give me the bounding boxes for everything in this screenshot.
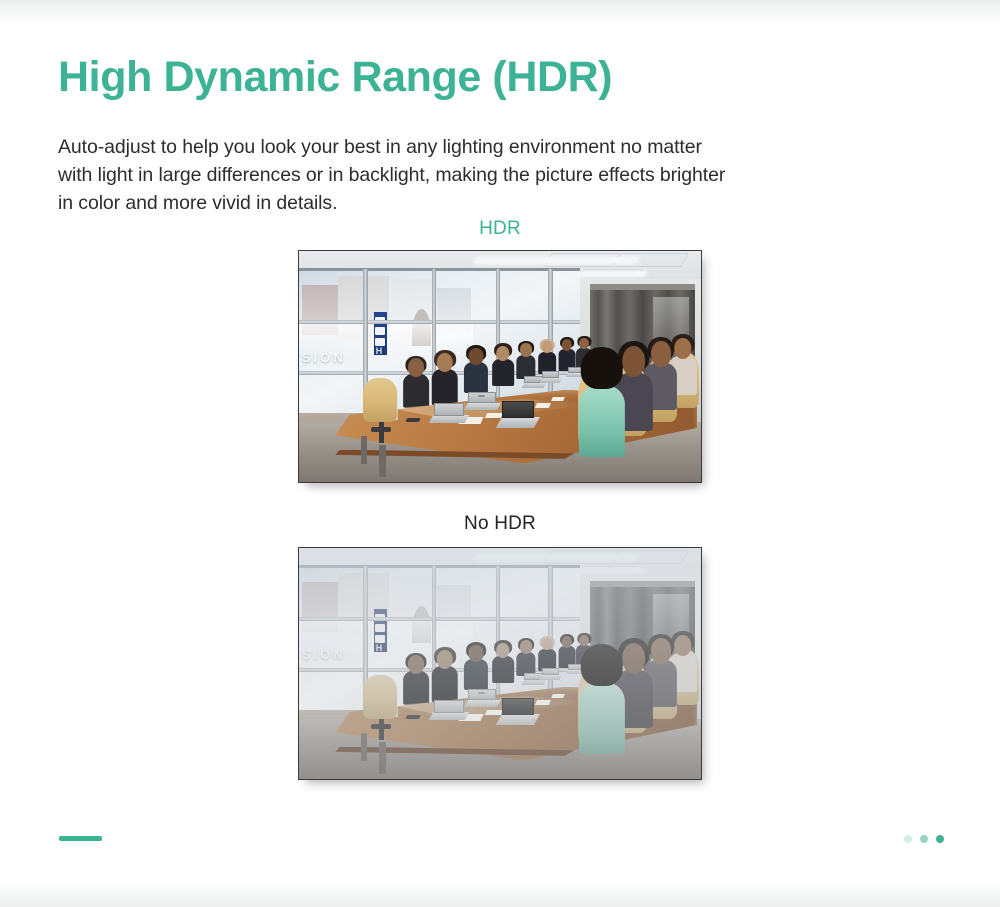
person-torso <box>578 386 624 457</box>
pagination-dot-1[interactable] <box>904 835 912 843</box>
person-head <box>520 343 532 356</box>
slide-root: High Dynamic Range (HDR) Auto-adjust to … <box>0 0 1000 907</box>
window-frame-top <box>299 268 580 272</box>
person-head <box>651 341 671 366</box>
description-text: Auto-adjust to help you look your best i… <box>58 133 958 217</box>
glass-lettering-primary: SION <box>302 350 346 365</box>
person-torso <box>464 362 488 393</box>
laptop-base <box>540 378 563 383</box>
table-leg <box>361 436 366 464</box>
laptop-screen <box>542 371 559 378</box>
person <box>538 341 556 373</box>
no-hdr-scene: SION ITH <box>299 548 701 779</box>
office-chair <box>363 378 397 422</box>
no-hdr-photo: SION ITH <box>298 547 702 780</box>
table-leg <box>379 445 385 477</box>
person <box>404 358 430 407</box>
paper-sheet <box>535 403 552 408</box>
laptop-screen <box>434 403 464 415</box>
person-head <box>622 346 646 378</box>
person-hair <box>580 347 623 390</box>
slide-progress-indicator[interactable] <box>59 836 102 841</box>
slide-pagination-dots[interactable] <box>904 835 944 843</box>
no-hdr-label: No HDR <box>0 514 1000 533</box>
banner-letter <box>375 327 385 335</box>
person-torso <box>492 359 514 386</box>
pagination-dot-3[interactable] <box>936 835 944 843</box>
hdr-scene: SION ITH <box>299 251 701 482</box>
laptop-screen <box>502 401 534 417</box>
hdr-photo: SION ITH <box>298 250 702 483</box>
bottom-edge-gradient <box>0 883 1000 907</box>
paper-sheet <box>551 397 565 401</box>
laptop-sticker <box>478 395 485 398</box>
laptop-base <box>463 403 500 410</box>
chair-post <box>379 422 384 443</box>
person-head <box>468 348 483 365</box>
description-line-1: Auto-adjust to help you look your best i… <box>58 133 958 161</box>
ceiling-light-strip <box>474 258 638 263</box>
person <box>492 346 514 385</box>
laptop <box>468 392 496 410</box>
banner-letter <box>375 338 385 346</box>
laptop <box>502 401 534 428</box>
paper-sheet <box>485 413 503 418</box>
pagination-dot-2[interactable] <box>920 835 928 843</box>
laptop-base <box>521 383 546 388</box>
person <box>558 339 575 370</box>
hdr-label: HDR <box>0 219 1000 238</box>
scene-haze <box>299 548 701 779</box>
person <box>432 353 459 404</box>
window-mullion-horizontal <box>299 320 580 323</box>
person <box>516 343 535 378</box>
laptop <box>434 403 464 423</box>
description-line-3: in color and more vivid in details. <box>58 189 958 217</box>
person-torso <box>432 369 459 405</box>
chair-base <box>371 427 391 432</box>
laptop-screen <box>468 392 496 403</box>
laptop-base <box>496 417 540 428</box>
laptop <box>542 371 559 383</box>
top-edge-gradient <box>0 0 1000 26</box>
page-title: High Dynamic Range (HDR) <box>58 51 612 103</box>
person-foreground <box>578 353 624 455</box>
description-line-2: with light in large differences or in ba… <box>58 161 958 189</box>
person-torso <box>404 374 430 408</box>
person <box>464 348 488 392</box>
person-head <box>542 341 553 353</box>
laptop-base <box>429 415 469 423</box>
